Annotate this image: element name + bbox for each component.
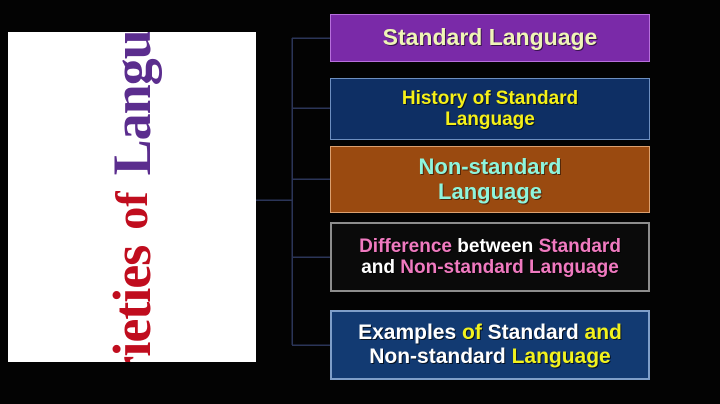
node-line: Non-standard [419, 155, 562, 180]
node-line: Non-standard Language [358, 345, 622, 369]
node-segment: Examples [358, 321, 462, 344]
node-segment: Language [438, 179, 542, 204]
node-segment: Language [512, 345, 611, 368]
node-segment: and [585, 321, 622, 344]
node-text: History of Standard Language [402, 88, 578, 131]
node-difference-standard-vs-non-standard[interactable]: Difference between Standard and Non-stan… [330, 222, 650, 292]
node-text: Difference between Standard and Non-stan… [359, 236, 621, 279]
slide-canvas: Varieties of Language Standard Language [0, 0, 720, 404]
title-word-of: of [109, 191, 155, 229]
node-segment: Language [445, 109, 535, 130]
node-segment: Non-standard [419, 154, 562, 179]
title-word-varieties: Varieties [105, 246, 159, 362]
node-line: Standard Language [383, 25, 598, 51]
node-examples-standard-and-non-standard[interactable]: Examples of Standard and Non-standard La… [330, 310, 650, 380]
node-standard-language[interactable]: Standard Language [330, 14, 650, 62]
node-history-of-standard-language[interactable]: History of Standard Language [330, 78, 650, 140]
node-text: Standard Language [383, 25, 598, 51]
node-segment: and [361, 257, 400, 278]
node-segment: of [462, 321, 488, 344]
node-line: Language [419, 180, 562, 205]
title-word-language: Language [105, 32, 159, 175]
node-line: and Non-standard Language [359, 257, 621, 278]
node-line: History of Standard [402, 88, 578, 109]
node-segment: Standard [488, 321, 585, 344]
title-rotated-text: Varieties of Language [8, 32, 256, 362]
node-line: Language [402, 109, 578, 130]
node-segment: History of Standard [402, 88, 578, 109]
node-text: Examples of Standard and Non-standard La… [358, 321, 622, 368]
node-segment: between [457, 236, 538, 257]
node-text: Non-standard Language [419, 155, 562, 204]
node-segment: Non-standard [369, 345, 511, 368]
node-segment: Standard [539, 236, 621, 257]
node-segment: Standard Language [383, 24, 598, 50]
node-segment: Non-standard Language [400, 257, 619, 278]
title-panel: Varieties of Language [8, 32, 256, 362]
node-line: Examples of Standard and [358, 321, 622, 345]
node-non-standard-language[interactable]: Non-standard Language [330, 146, 650, 213]
node-segment: Difference [359, 236, 457, 257]
node-line: Difference between Standard [359, 236, 621, 257]
